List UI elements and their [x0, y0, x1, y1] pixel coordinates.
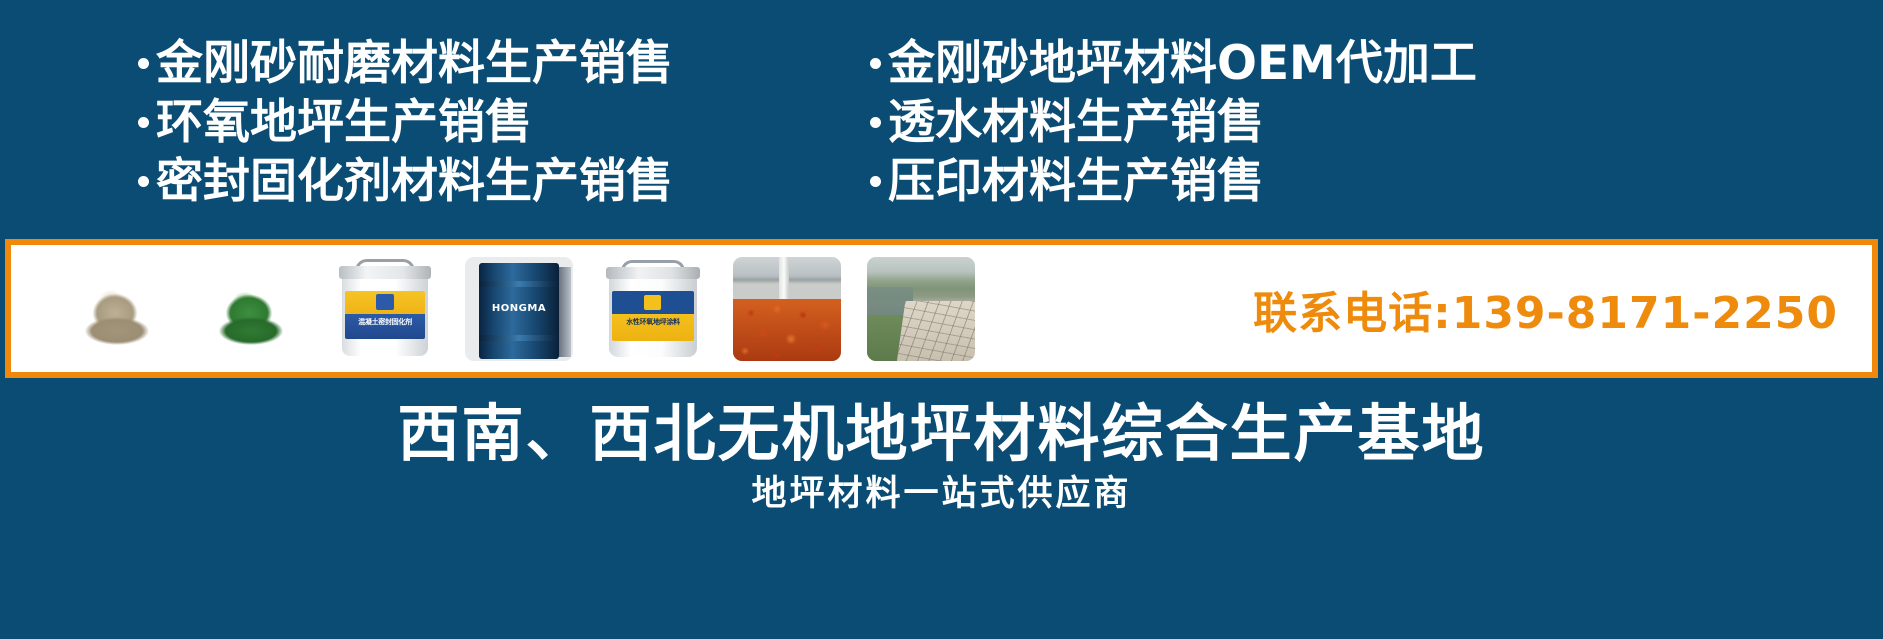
- service-item-right-2: 透水材料生产销售: [870, 93, 1883, 152]
- paving-pattern-shape: [897, 301, 975, 361]
- bullet-dot-icon: [138, 176, 149, 187]
- promo-banner: 金刚砂耐磨材料生产销售 环氧地坪生产销售 密封固化剂材料生产销售 金刚砂地坪材料…: [0, 0, 1883, 639]
- service-item-left-3: 密封固化剂材料生产销售: [138, 152, 860, 211]
- product-image-epoxy-drum: HONGMA: [465, 257, 573, 361]
- pail-label: 混凝土密封固化剂: [345, 291, 425, 339]
- pail-lid-shape: [606, 267, 700, 279]
- service-column-right: 金刚砂地坪材料OEM代加工 透水材料生产销售 压印材料生产销售: [860, 34, 1883, 234]
- pail-lid-shape: [339, 266, 431, 279]
- drum-side-shape: [559, 267, 571, 357]
- product-image-hand-aggregate: [733, 257, 841, 361]
- aggregate-grain-shape: [733, 299, 841, 361]
- contact-phone[interactable]: 联系电话:139-8171-2250: [1253, 277, 1838, 341]
- bullet-dot-icon: [138, 117, 149, 128]
- product-strip: 混凝土密封固化剂 HONGMA 水性环氧地坪涂料: [5, 239, 1878, 378]
- drum-ring-shape: [479, 281, 559, 287]
- service-label: 压印材料生产销售: [888, 158, 1264, 205]
- service-item-left-2: 环氧地坪生产销售: [138, 93, 860, 152]
- service-item-right-3: 压印材料生产销售: [870, 152, 1883, 211]
- product-image-sand-powder-pile: [63, 257, 171, 361]
- drum-brand-text: HONGMA: [479, 303, 559, 314]
- pail-label-text: 混凝土密封固化剂: [348, 317, 422, 327]
- product-image-waterborne-epoxy-pail: 水性环氧地坪涂料: [599, 257, 707, 361]
- product-image-sealer-pail: 混凝土密封固化剂: [331, 257, 439, 361]
- service-list: 金刚砂耐磨材料生产销售 环氧地坪生产销售 密封固化剂材料生产销售 金刚砂地坪材料…: [0, 34, 1883, 234]
- page-title: 西南、西北无机地坪材料综合生产基地: [0, 383, 1883, 473]
- drum-ring-shape: [479, 335, 559, 341]
- product-image-green-powder-pile: [197, 257, 305, 361]
- pail-label-text: 水性环氧地坪涂料: [614, 317, 692, 327]
- product-image-stone-path: [867, 257, 975, 361]
- service-label: 金刚砂地坪材料OEM代加工: [888, 40, 1477, 87]
- page-subtitle: 地坪材料一站式供应商: [0, 465, 1883, 516]
- service-label: 金刚砂耐磨材料生产销售: [156, 40, 673, 87]
- service-item-left-1: 金刚砂耐磨材料生产销售: [138, 34, 860, 93]
- brand-mark-icon: [644, 295, 661, 310]
- brand-mark-icon: [376, 294, 394, 310]
- service-label: 环氧地坪生产销售: [156, 99, 532, 146]
- service-item-right-1: 金刚砂地坪材料OEM代加工: [870, 34, 1883, 93]
- service-label: 透水材料生产销售: [888, 99, 1264, 146]
- bullet-dot-icon: [870, 176, 881, 187]
- tool-handle-shape: [779, 257, 789, 303]
- bullet-dot-icon: [870, 58, 881, 69]
- service-column-left: 金刚砂耐磨材料生产销售 环氧地坪生产销售 密封固化剂材料生产销售: [0, 34, 860, 234]
- bullet-dot-icon: [870, 117, 881, 128]
- bullet-dot-icon: [138, 58, 149, 69]
- pail-label: 水性环氧地坪涂料: [612, 291, 694, 341]
- service-label: 密封固化剂材料生产销售: [156, 158, 673, 205]
- product-strip-inner: 混凝土密封固化剂 HONGMA 水性环氧地坪涂料: [11, 245, 1872, 372]
